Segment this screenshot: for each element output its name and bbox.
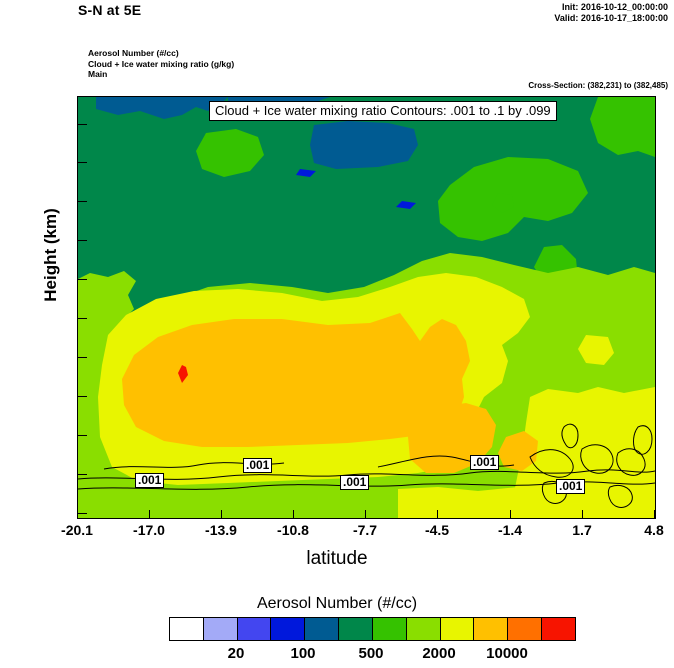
contour-label-5: .001 <box>556 479 585 494</box>
x-tick-label-2: -13.9 <box>186 522 256 538</box>
contour-label-1: .001 <box>135 473 164 488</box>
x-tick-label-8: 4.8 <box>619 522 674 538</box>
contour-label-2: .001 <box>243 458 272 473</box>
x-axis-title: latitude <box>0 548 674 570</box>
colorbar-swatch-11 <box>542 618 575 640</box>
contour-label-4: .001 <box>470 455 499 470</box>
colorbar-swatch-2 <box>238 618 272 640</box>
colorbar-swatch-0 <box>170 618 204 640</box>
colorbar-swatch-6 <box>373 618 407 640</box>
colorbar-swatch-4 <box>305 618 339 640</box>
colorbar <box>169 617 576 641</box>
colorbar-swatch-3 <box>271 618 305 640</box>
x-tick-label-4: -7.7 <box>330 522 400 538</box>
figure-canvas: S-N at 5E Init: 2016-10-12_00:00:00 Vali… <box>0 0 674 668</box>
colorbar-title: Aerosol Number (#/cc) <box>0 595 674 613</box>
x-tick-label-0: -20.1 <box>42 522 112 538</box>
x-tick-label-6: -1.4 <box>475 522 545 538</box>
x-tick-label-7: 1.7 <box>547 522 617 538</box>
colorbar-swatch-1 <box>204 618 238 640</box>
colorbar-swatch-10 <box>508 618 542 640</box>
colorbar-swatch-8 <box>441 618 475 640</box>
colorbar-tick-10000: 10000 <box>467 645 547 662</box>
contour-banner: Cloud + Ice water mixing ratio Contours:… <box>209 101 557 121</box>
colorbar-swatch-5 <box>339 618 373 640</box>
x-tick-label-5: -4.5 <box>402 522 472 538</box>
colorbar-swatch-9 <box>474 618 508 640</box>
x-tick-label-1: -17.0 <box>114 522 184 538</box>
y-axis-title: Height (km) <box>41 195 61 315</box>
x-tick-label-3: -10.8 <box>258 522 328 538</box>
colorbar-swatch-7 <box>407 618 441 640</box>
contour-label-3: .001 <box>340 475 369 490</box>
